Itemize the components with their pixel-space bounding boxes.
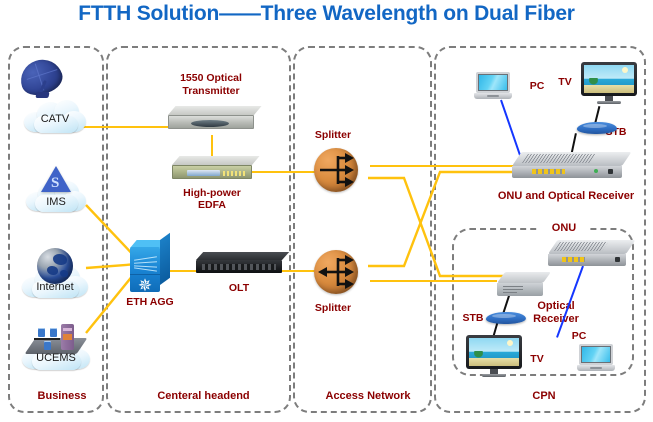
globe-icon [37,248,73,284]
zone-label-business: Business [28,390,96,402]
ims-glyph-icon: S [51,175,59,192]
satellite-dish-icon [20,60,66,100]
transmitter-label-line2: Transmitter [161,85,261,97]
optical-receiver-icon [497,272,543,298]
pc-bottom-icon [577,344,615,374]
ftth-diagram: FTTH Solution——Three Wavelength on Dual … [0,0,653,422]
page-title: FTTH Solution——Three Wavelength on Dual … [0,2,653,26]
internet-label: Internet [22,281,88,293]
tv-bottom-icon [466,335,522,379]
pc-top-label: PC [524,80,550,92]
splitter-bottom-label: Splitter [303,302,363,314]
link-splitter-bottom-onu-upper [368,170,528,285]
pc-top-icon [474,72,512,102]
edfa-icon [172,156,252,182]
zone-label-access-network: Access Network [311,390,425,402]
tv-bottom-label: TV [524,353,550,365]
stb-top-icon [577,118,617,138]
onu-bottom-icon [548,240,626,266]
tv-top-label: TV [552,76,578,88]
ims-label: IMS [26,196,86,208]
zone-label-central-headend: Centeral headend [142,390,265,402]
stb-bottom-label: STB [459,312,487,324]
onu-optical-receiver-icon [512,152,622,180]
link-splitter-top-onu-upper [370,165,524,167]
eth-agg-switch-icon: ✵ [130,240,170,292]
optical-transmitter-icon [168,106,254,132]
tv-top-icon [581,62,637,106]
splitter-bottom-arrows-icon [314,250,358,294]
edfa-label-line1: High-power [162,187,262,199]
splitter-top-arrows-icon [314,148,358,192]
edfa-label-line2: EDFA [162,199,262,211]
server-platform-icon [30,322,82,356]
transmitter-label-line1: 1550 Optical [161,72,261,84]
zone-label-cpn: CPN [510,390,578,402]
splitter-top-label: Splitter [303,129,363,141]
link-catv-transmitter [82,126,177,128]
pc-bottom-label: PC [566,330,592,342]
stb-bottom-icon [486,308,526,328]
ucems-label: UCEMS [22,352,90,364]
olt-icon [196,252,282,274]
link-splitter-bottom-receiver [370,280,497,282]
catv-label: CATV [24,113,86,125]
zone-label-onu-group: ONU [540,222,588,234]
olt-label: OLT [209,282,269,294]
